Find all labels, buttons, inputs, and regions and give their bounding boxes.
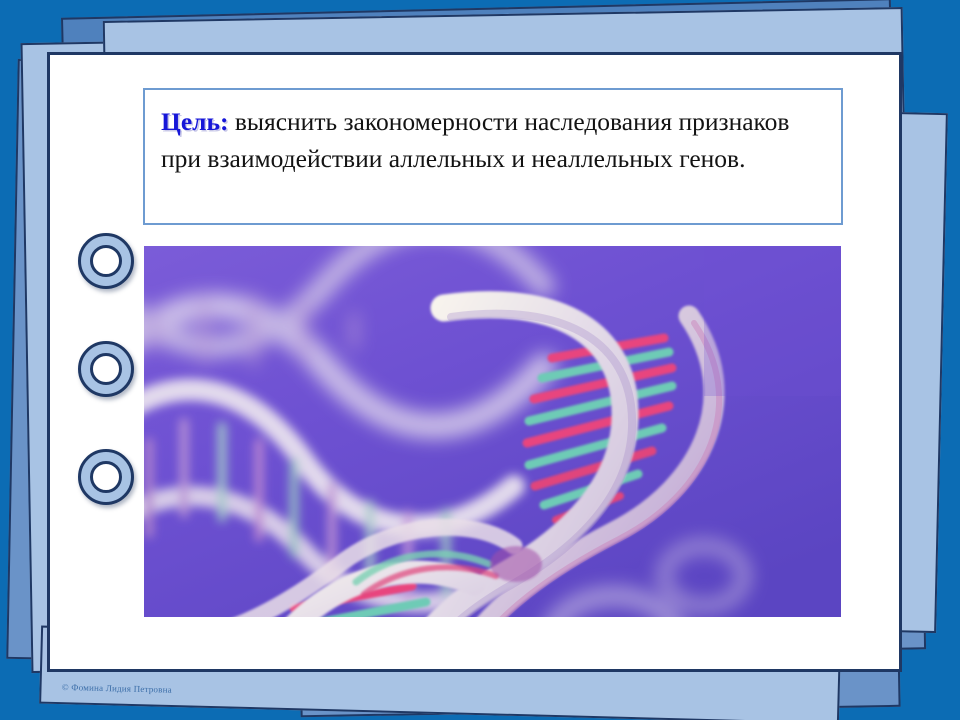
goal-label: Цель:	[161, 107, 228, 136]
goal-body: выяснить закономерности наследования при…	[161, 107, 789, 173]
ring-icon-hole	[90, 461, 122, 493]
ring-bullet-3	[78, 449, 134, 505]
bullet-ring-group	[78, 233, 134, 557]
ring-bullet-1	[78, 233, 134, 289]
ring-bullet-2	[78, 341, 134, 397]
goal-textbox: Цель: выяснить закономерности наследован…	[143, 88, 843, 225]
goal-paragraph: Цель: выяснить закономерности наследован…	[161, 104, 825, 177]
dna-vignette	[704, 246, 841, 396]
ring-icon-hole	[90, 245, 122, 277]
dna-illustration-svg	[144, 246, 841, 617]
slide-canvas: Цель: выяснить закономерности наследован…	[0, 0, 960, 720]
dna-strand-texture-patch	[490, 546, 542, 582]
ring-icon-hole	[90, 353, 122, 385]
dna-double-helix-image	[144, 246, 841, 617]
